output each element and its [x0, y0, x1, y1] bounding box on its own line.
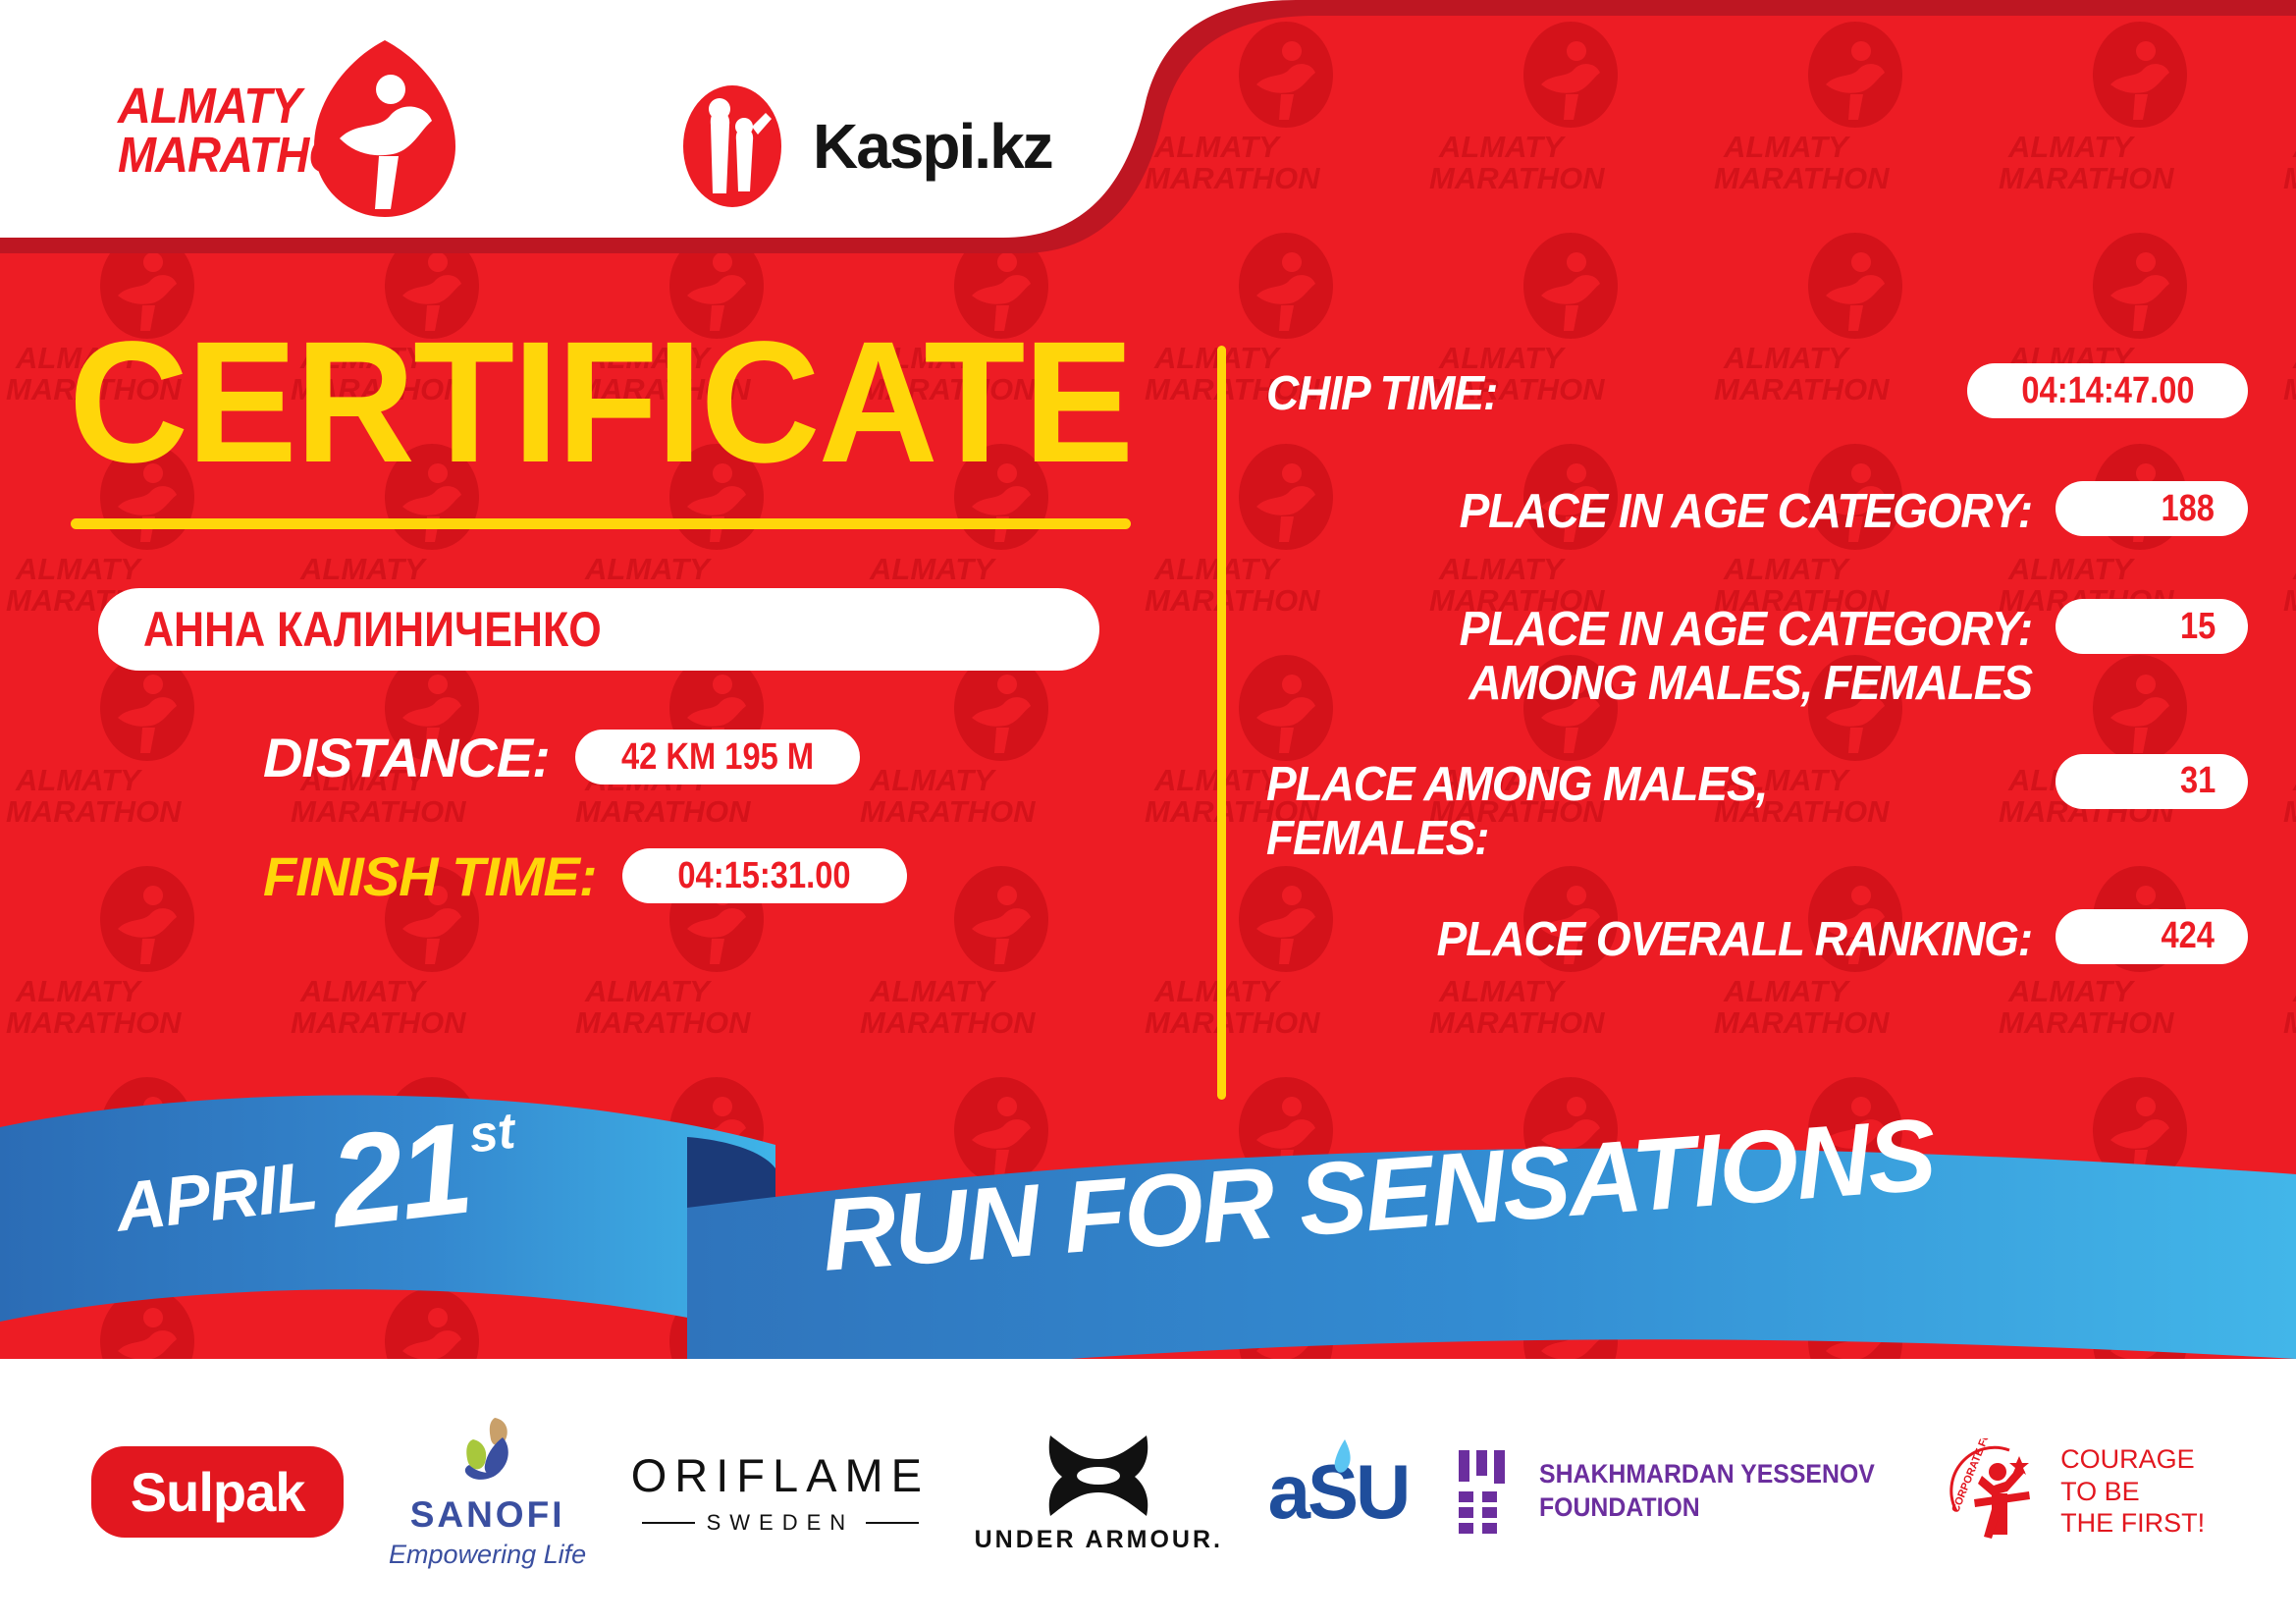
yessenov-line2: FOUNDATION: [1539, 1491, 1875, 1525]
place-among-gender-label: PLACE AMONG MALES, FEMALES:: [1266, 754, 1986, 866]
oriflame-tagline: SWEDEN: [707, 1510, 855, 1536]
courage-line3: THE FIRST!: [2060, 1507, 2205, 1539]
yessenov-wordmark: SHAKHMARDAN YESSENOV FOUNDATION: [1539, 1458, 1875, 1525]
distance-label: DISTANCE:: [263, 726, 550, 789]
place-age-category-gender-label: PLACE IN AGE CATEGORY: AMONG MALES, FEMA…: [1312, 599, 2032, 711]
runner-drop-icon: [306, 36, 463, 223]
chip-time-value-pill: 04:14:47.00: [1967, 363, 2248, 418]
ribbon-ordinal: st: [466, 1102, 524, 1219]
chip-time-value: 04:14:47.00: [2021, 370, 2194, 412]
ribbon-date: APRIL 21 st: [109, 1102, 524, 1261]
athlete-name-value: АННА КАЛИНИЧЕНКО: [143, 601, 602, 658]
finish-time-value: 04:15:31.00: [677, 855, 850, 897]
under-armour-icon: [1041, 1430, 1156, 1520]
ribbon-month: APRIL: [112, 1146, 322, 1261]
ribbon-day: 21: [326, 1114, 473, 1235]
oriflame-tagline-wrap: SWEDEN: [642, 1510, 920, 1536]
under-armour-wordmark: UNDER ARMOUR.: [975, 1526, 1223, 1554]
yessenov-mark-icon: [1453, 1448, 1518, 1535]
courage-runner-icon: CORPORATE FUND: [1949, 1438, 2047, 1544]
place-overall-label: PLACE OVERALL RANKING:: [1312, 909, 2032, 967]
courage-wordmark: COURAGE TO BE THE FIRST!: [2060, 1443, 2205, 1539]
certificate-title: CERTIFICATE: [69, 324, 1162, 483]
place-age-category-value: 188: [2161, 488, 2215, 530]
place-overall-value-pill: 424: [2056, 909, 2248, 964]
sponsor-oriflame: ORIFLAME SWEDEN: [631, 1448, 930, 1536]
sponsor-logos: Sulpak SANOFI Empowering Life ORIFLAME S…: [0, 1359, 2296, 1624]
asu-droplet-icon: [1329, 1437, 1355, 1477]
place-age-category-label: PLACE IN AGE CATEGORY:: [1312, 481, 2032, 539]
sponsor-under-armour: UNDER ARMOUR.: [975, 1430, 1223, 1554]
finish-time-label: FINISH TIME:: [263, 844, 597, 908]
sanofi-wordmark: SANOFI: [410, 1494, 565, 1536]
sanofi-tagline: Empowering Life: [389, 1540, 586, 1570]
kaspi-logo: Kaspi.kz: [677, 83, 1052, 209]
oriflame-wordmark: ORIFLAME: [631, 1448, 930, 1502]
distance-row: DISTANCE: 42 KM 195 M: [263, 726, 1207, 789]
sponsor-sanofi: SANOFI Empowering Life: [389, 1414, 586, 1570]
header-logos: ALMATY MARATHON Kaspi.kz: [0, 0, 1178, 275]
sanofi-icon: [450, 1414, 526, 1490]
finish-time-row: FINISH TIME: 04:15:31.00: [263, 844, 1207, 908]
place-age-category-row: PLACE IN AGE CATEGORY: 188: [1266, 481, 2248, 556]
oriflame-rule-right: [866, 1522, 919, 1524]
kaspi-people-icon: [677, 83, 787, 209]
certificate-canvas: ALMATY MARATHON ALMATY MARATHON: [0, 0, 2296, 1624]
sponsor-courage: CORPORATE FUND COURAGE TO BE THE FIRST!: [1949, 1438, 2205, 1544]
kaspi-wordmark: Kaspi.kz: [813, 110, 1052, 183]
athlete-name-field: АННА КАЛИНИЧЕНКО: [98, 588, 1099, 671]
almaty-marathon-logo: ALMATY MARATHON: [118, 54, 442, 221]
left-column: CERTIFICATE АННА КАЛИНИЧЕНКО DISTANCE: 4…: [0, 324, 1207, 908]
chip-time-label: CHIP TIME:: [1266, 363, 1903, 421]
place-age-category-gender-row: PLACE IN AGE CATEGORY: AMONG MALES, FEMA…: [1266, 599, 2248, 711]
yessenov-lockup: SHAKHMARDAN YESSENOV FOUNDATION: [1453, 1448, 1904, 1535]
place-age-category-gender-value-pill: 15: [2056, 599, 2248, 654]
oriflame-rule-left: [642, 1522, 695, 1524]
sponsor-sulpak: Sulpak: [91, 1446, 345, 1538]
title-underline: [71, 518, 1131, 529]
place-among-gender-row: PLACE AMONG MALES, FEMALES: 31: [1266, 754, 2248, 866]
courage-lockup: CORPORATE FUND COURAGE TO BE THE FIRST!: [1949, 1438, 2205, 1544]
ribbon-slogan: RUN FOR SENSATIONS: [819, 1097, 1939, 1295]
place-age-category-value-pill: 188: [2056, 481, 2248, 536]
place-among-gender-value-pill: 31: [2056, 754, 2248, 809]
finish-time-value-pill: 04:15:31.00: [622, 848, 907, 903]
vertical-divider: [1217, 346, 1226, 1100]
yessenov-line1: SHAKHMARDAN YESSENOV: [1539, 1458, 1875, 1491]
courage-line2: TO BE: [2060, 1476, 2205, 1507]
right-column: CHIP TIME: 04:14:47.00 PLACE IN AGE CATE…: [1266, 363, 2248, 1027]
courage-line1: COURAGE: [2060, 1443, 2205, 1475]
sponsor-yessenov: SHAKHMARDAN YESSENOV FOUNDATION: [1453, 1448, 1904, 1535]
chip-time-row: CHIP TIME: 04:14:47.00: [1266, 363, 2248, 438]
sulpak-wordmark: Sulpak: [91, 1446, 345, 1538]
sponsor-asu: aSU: [1268, 1453, 1409, 1530]
place-among-gender-value: 31: [2180, 760, 2216, 802]
place-overall-row: PLACE OVERALL RANKING: 424: [1266, 909, 2248, 984]
distance-value: 42 KM 195 M: [621, 736, 814, 779]
place-age-category-gender-value: 15: [2180, 606, 2216, 648]
place-overall-value: 424: [2161, 915, 2215, 957]
distance-value-pill: 42 KM 195 M: [575, 730, 860, 785]
